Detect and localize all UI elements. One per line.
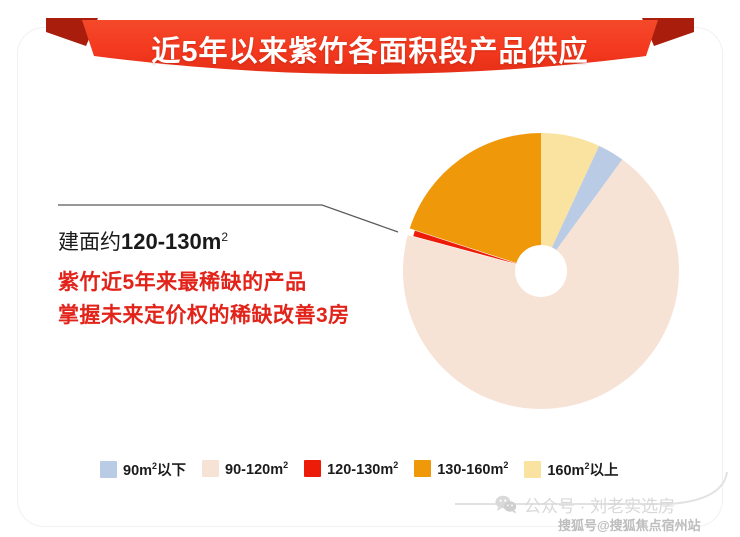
- legend-item[interactable]: 90-120m2: [202, 460, 288, 478]
- legend-item[interactable]: 120-130m2: [304, 460, 398, 478]
- annotation-area-label: 建面约120-130m2: [58, 228, 458, 256]
- watermark-wechat: 公众号 · 刘老实选房: [495, 492, 675, 517]
- wechat-icon: [495, 495, 517, 514]
- page-title: 近5年以来紫竹各面积段产品供应: [46, 18, 694, 80]
- legend-label: 90m2以下: [123, 459, 186, 480]
- donut-center-hole: [516, 246, 566, 296]
- annotation-value: 120-130m: [121, 229, 221, 254]
- annotation-highlight-line-1: 紫竹近5年来最稀缺的产品: [58, 268, 458, 298]
- legend-swatch: [414, 460, 431, 477]
- legend-swatch: [100, 461, 117, 478]
- watermark-wechat-text: 公众号 · 刘老实选房: [524, 492, 675, 517]
- slide-canvas: 近5年以来紫竹各面积段产品供应 建面约120-130m2 紫竹近5年来最稀缺的产…: [0, 0, 740, 537]
- legend-item[interactable]: 90m2以下: [100, 459, 186, 480]
- annotation-superscript: 2: [221, 230, 228, 244]
- legend-swatch: [202, 460, 219, 477]
- annotation-prefix: 建面约: [58, 231, 121, 254]
- legend-label: 120-130m2: [327, 460, 398, 478]
- title-ribbon: 近5年以来紫竹各面积段产品供应: [46, 18, 694, 80]
- legend-label: 90-120m2: [225, 460, 288, 478]
- watermark-sohu-text: 搜狐号@搜狐焦点宿州站: [558, 515, 701, 534]
- annotation-highlight-line-2: 掌握未来定价权的稀缺改善3房: [58, 301, 458, 331]
- callout-annotation: 建面约120-130m2 紫竹近5年来最稀缺的产品 掌握未来定价权的稀缺改善3房: [58, 228, 458, 331]
- legend-swatch: [304, 460, 321, 477]
